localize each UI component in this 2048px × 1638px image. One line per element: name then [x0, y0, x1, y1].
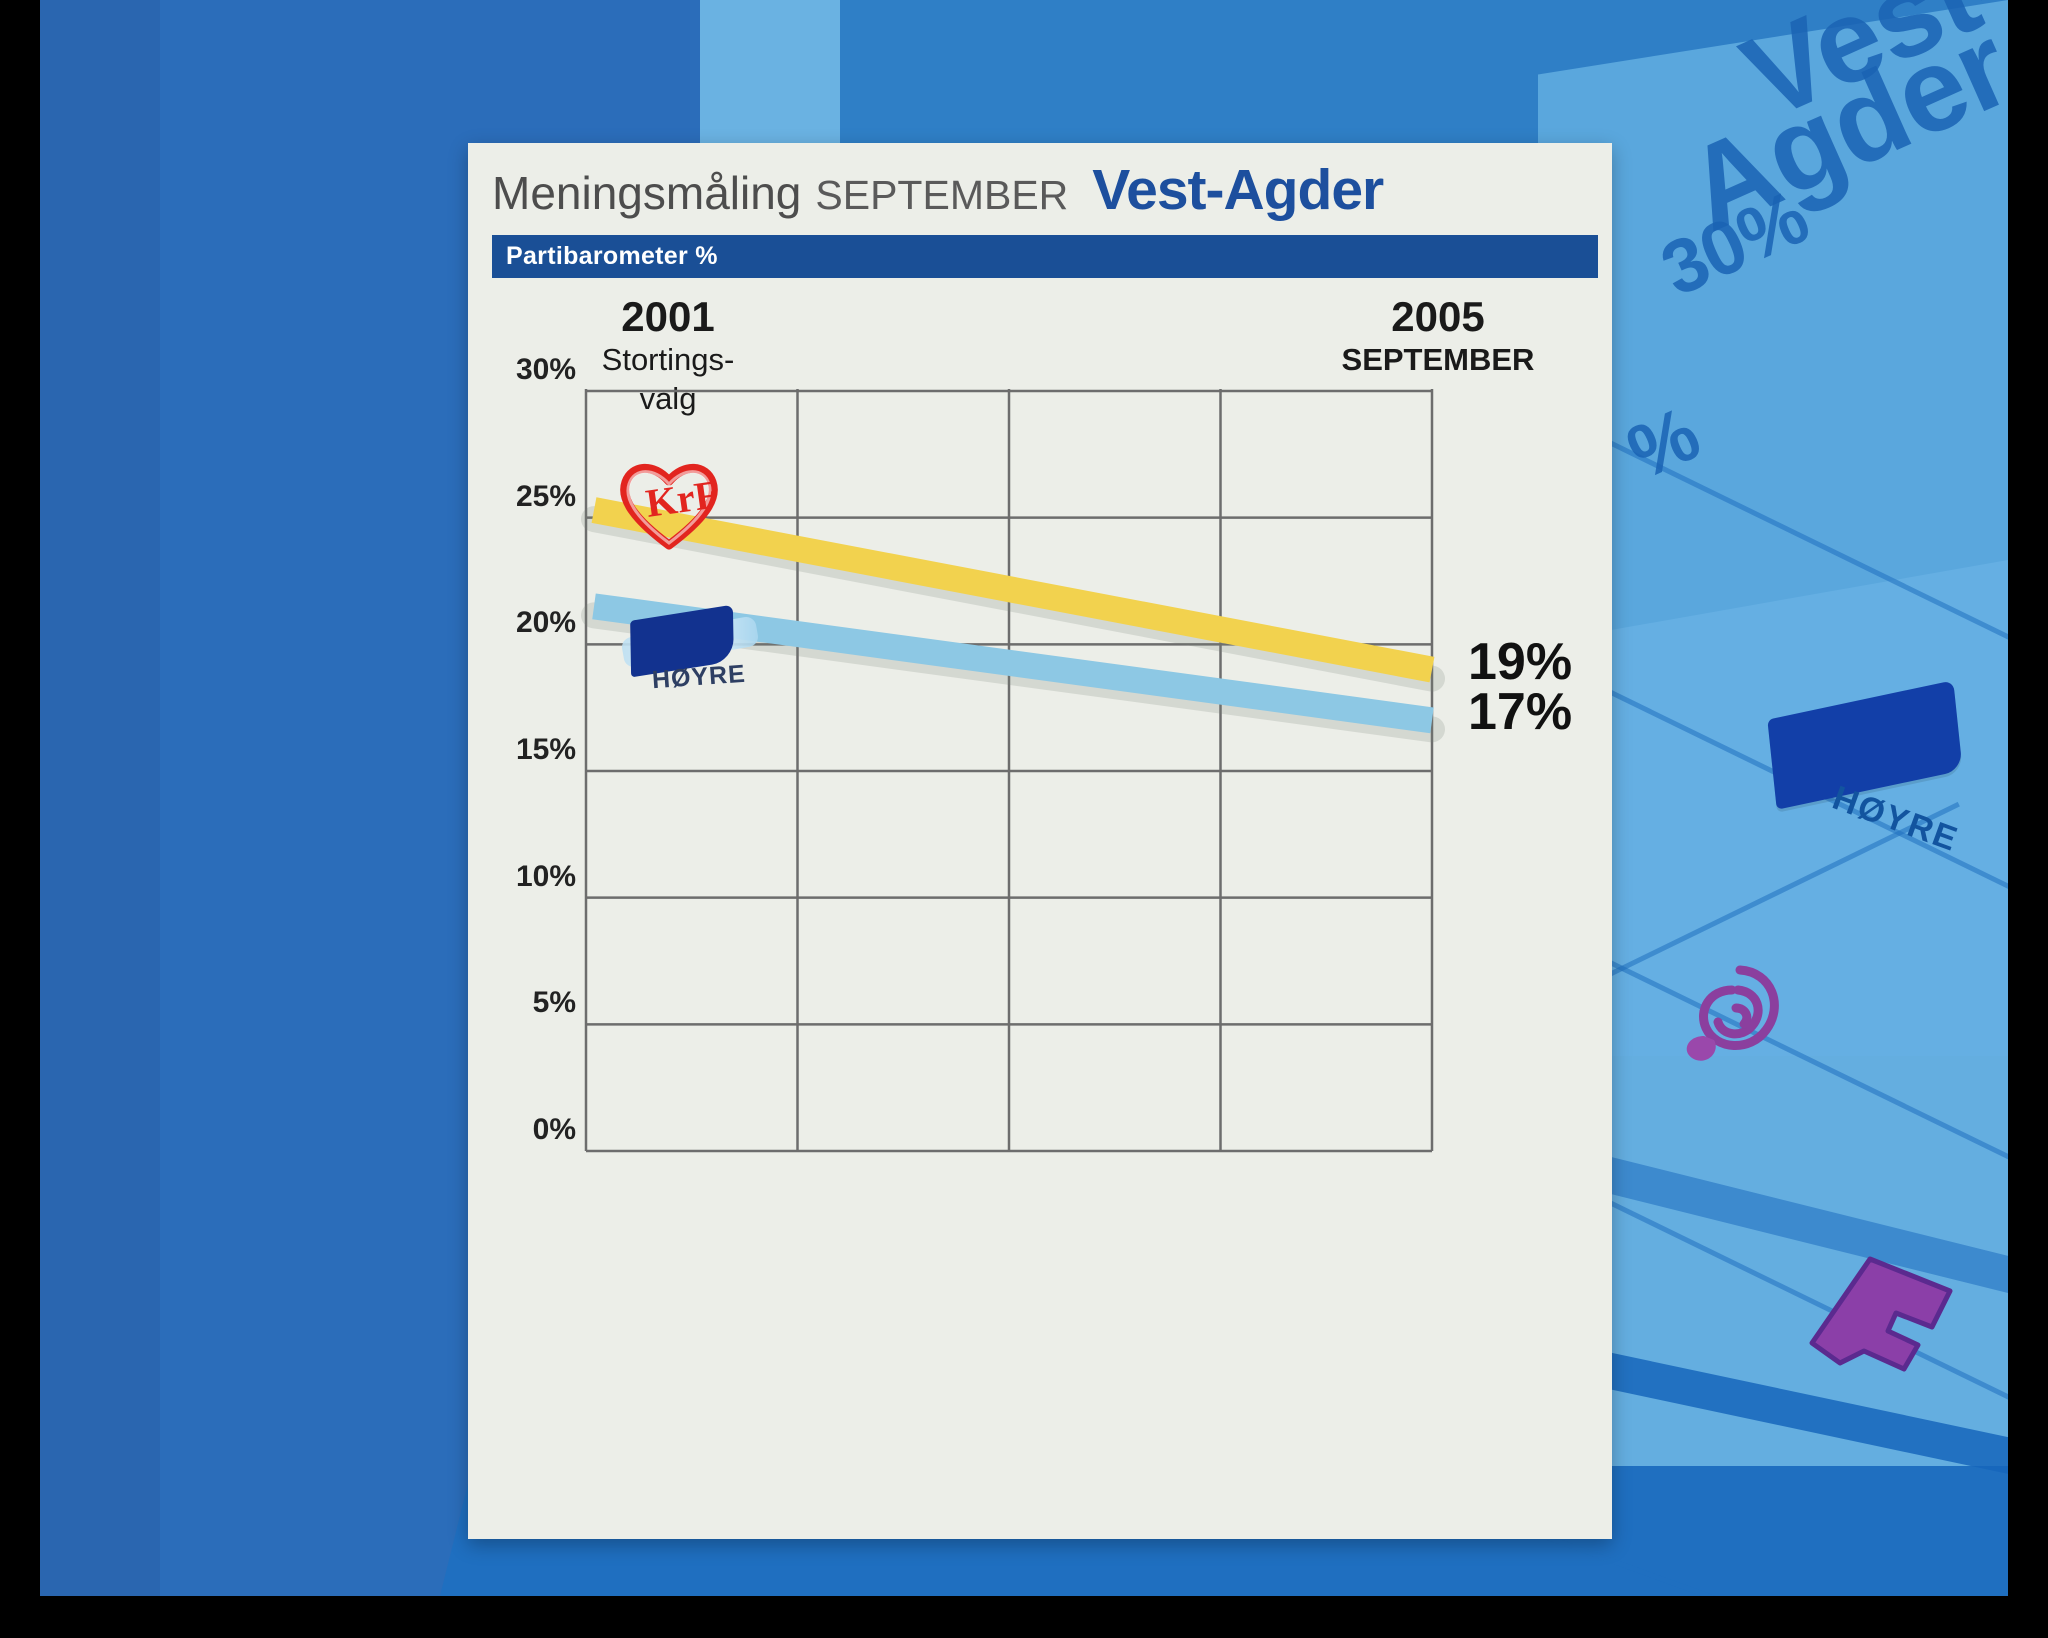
- y-axis-tick-5%: 5%: [482, 986, 576, 1020]
- background-rose-icon: [1680, 950, 1800, 1070]
- y-axis-tick-20%: 20%: [482, 606, 576, 640]
- y-axis-tick-25%: 25%: [482, 480, 576, 514]
- column-year-right: 2005: [1288, 295, 1588, 339]
- y-axis-tick-0%: 0%: [482, 1113, 576, 1147]
- column-header-2001: 2001 Stortings- valg: [538, 295, 798, 417]
- page-title: Meningsmåling: [492, 166, 801, 220]
- y-axis-tick-15%: 15%: [482, 733, 576, 767]
- column-sub-left-1: Stortings-: [538, 343, 798, 378]
- end-value-Høyre: 17%: [1468, 682, 1572, 742]
- background-left-edge: [40, 0, 160, 1596]
- partibarometer-bar: Partibarometer %: [492, 235, 1598, 278]
- krf-heart-icon: KrF: [614, 455, 724, 551]
- hoyre-logo-label: HØYRE: [651, 660, 747, 695]
- hoyre-logo: HØYRE: [622, 611, 760, 703]
- y-axis-tick-30%: 30%: [482, 353, 576, 387]
- krf-logo: KrF: [614, 455, 724, 551]
- y-axis-tick-10%: 10%: [482, 860, 576, 894]
- title-month: SEPTEMBER: [815, 172, 1068, 219]
- column-sub-left-2: valg: [538, 382, 798, 417]
- card-title-row: Meningsmåling SEPTEMBER Vest-Agder: [492, 157, 1598, 229]
- background-frp-icon: [1800, 1235, 1970, 1375]
- column-year-left: 2001: [538, 295, 798, 339]
- title-region: Vest-Agder: [1092, 157, 1383, 223]
- column-header-2005: 2005 SEPTEMBER: [1288, 295, 1588, 378]
- svg-text:KrF: KrF: [643, 471, 722, 526]
- partibarometer-label: Partibarometer %: [492, 242, 718, 271]
- broadcast-graphic-screen: Vest- Agder 30% % 0% HØYRE Meningsmåling…: [0, 0, 2048, 1638]
- column-sub-right-1: SEPTEMBER: [1288, 343, 1588, 378]
- poll-chart-card: Meningsmåling SEPTEMBER Vest-Agder Parti…: [468, 143, 1612, 1539]
